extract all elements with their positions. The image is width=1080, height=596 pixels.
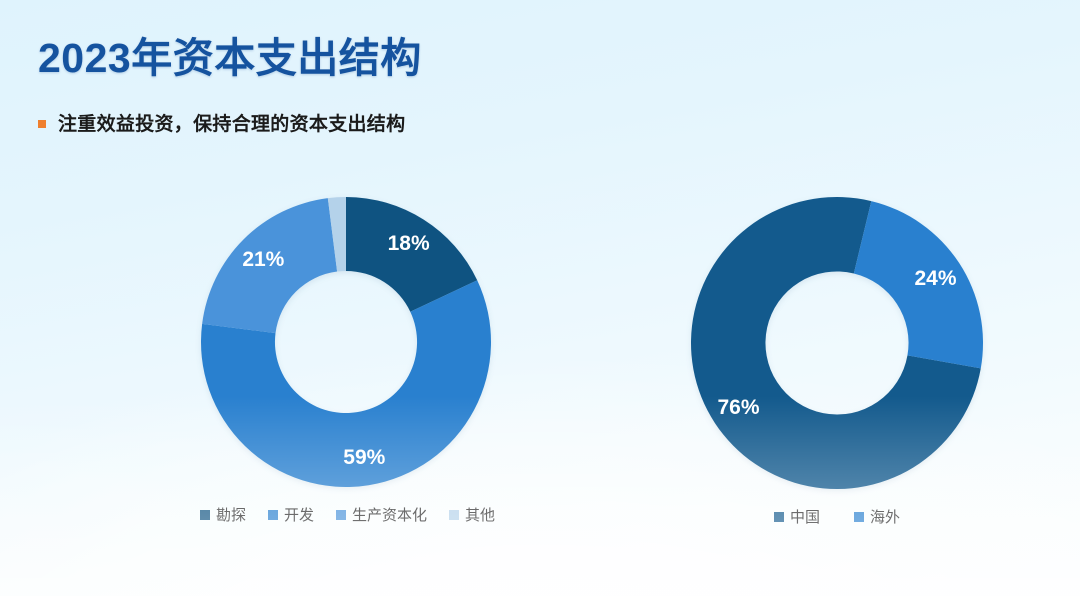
donut-slice-label: 76% [717,396,759,419]
donut-chart-business: 18%59%21% 勘探开发生产资本化其他 [200,196,495,525]
legend-label: 开发 [284,504,314,525]
legend-business: 勘探开发生产资本化其他 [200,504,495,525]
legend-label: 其他 [465,504,495,525]
legend-label: 中国 [790,506,820,527]
legend-label: 勘探 [216,504,246,525]
legend-swatch-icon [449,510,459,520]
donut-slices-business [201,197,491,487]
legend-swatch-icon [854,512,864,522]
donut-svg-region: 76%24% [690,196,984,490]
legend-item[interactable]: 开发 [268,504,314,525]
slide-canvas: 2023年资本支出结构 注重效益投资，保持合理的资本支出结构 18%59%21%… [0,0,1080,596]
legend-item[interactable]: 勘探 [200,504,246,525]
donut-svg-business: 18%59%21% [200,196,492,488]
donut-slice-label: 21% [242,248,284,271]
square-bullet-icon [38,120,46,128]
page-title: 2023年资本支出结构 [38,24,422,84]
legend-region: 中国海外 [690,506,984,527]
subtitle-text: 注重效益投资，保持合理的资本支出结构 [58,109,405,136]
donut-wrap-business: 18%59%21% [200,196,495,488]
legend-item[interactable]: 其他 [449,504,495,525]
donut-wrap-region: 76%24% [690,196,984,490]
legend-swatch-icon [774,512,784,522]
donut-slice-label: 59% [343,446,385,469]
donut-slice-label: 24% [914,267,956,290]
subtitle-row: 注重效益投资，保持合理的资本支出结构 [38,109,405,136]
donut-slice-label: 18% [388,232,430,255]
legend-item[interactable]: 生产资本化 [336,504,427,525]
legend-label: 海外 [870,506,900,527]
legend-label: 生产资本化 [352,504,427,525]
legend-swatch-icon [200,510,210,520]
legend-item[interactable]: 海外 [854,506,900,527]
legend-swatch-icon [336,510,346,520]
legend-item[interactable]: 中国 [774,506,820,527]
legend-swatch-icon [268,510,278,520]
donut-chart-region: 76%24% 中国海外 [690,196,984,527]
donut-slices-region [691,197,983,489]
